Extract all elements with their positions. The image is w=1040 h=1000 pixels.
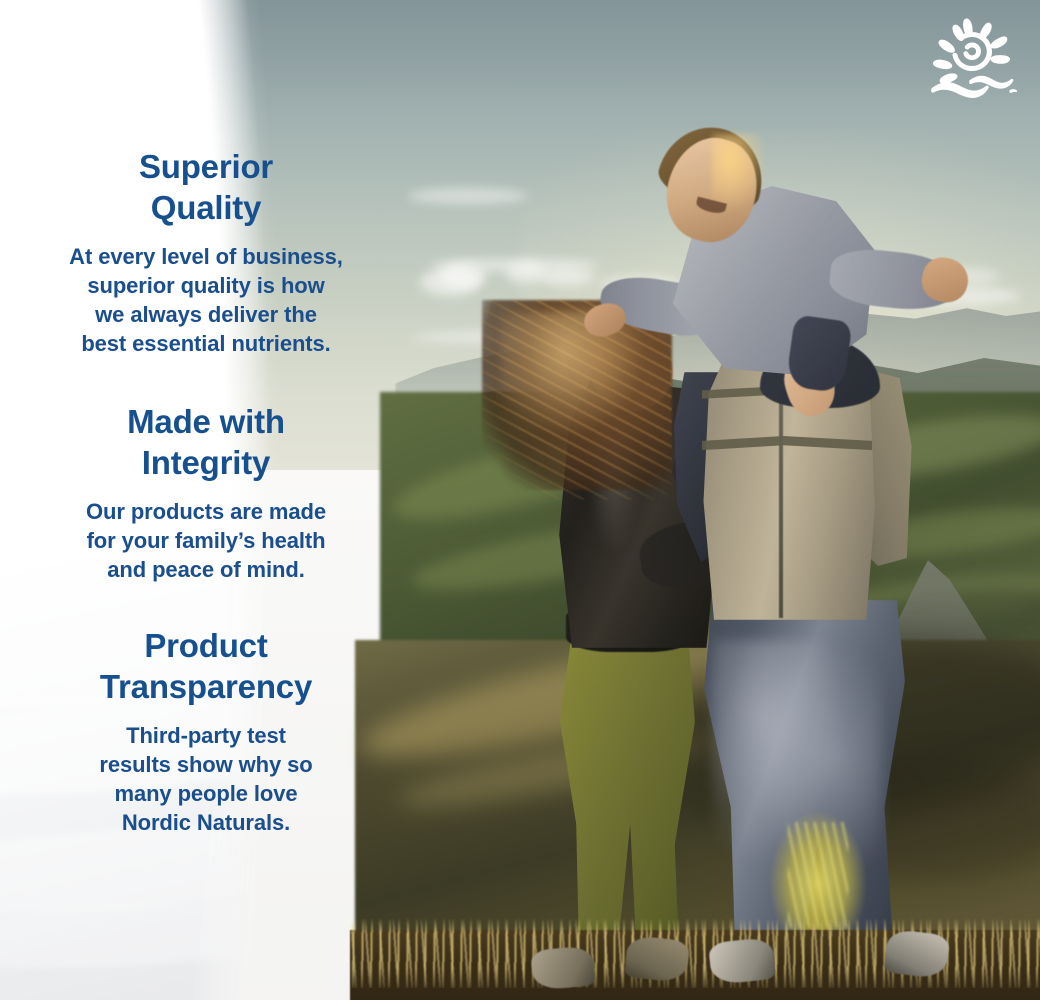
cloud <box>440 264 486 288</box>
feature-heading: Product Transparency <box>30 625 382 707</box>
man-left-shoe <box>708 937 776 985</box>
brand-banner: Superior Quality At every level of busin… <box>0 0 1040 1000</box>
cloud <box>540 268 594 286</box>
cloud <box>408 188 528 204</box>
feature-body: Our products are made for your family’s … <box>30 497 382 584</box>
woman-left-shoe <box>530 945 595 990</box>
woman-hair-rimlight <box>500 312 670 462</box>
feature-heading: Made with Integrity <box>30 401 382 483</box>
sun-wave-logo-icon <box>926 16 1022 104</box>
cloud <box>506 262 546 284</box>
feature-body: At every level of business, superior qua… <box>30 242 382 358</box>
feature-product-transparency: Product Transparency Third-party test re… <box>30 625 382 837</box>
feature-superior-quality: Superior Quality At every level of busin… <box>30 146 382 358</box>
feature-made-with-integrity: Made with Integrity Our products are mad… <box>30 401 382 584</box>
feature-heading: Superior Quality <box>30 146 382 228</box>
yellow-bush <box>770 812 866 932</box>
feature-body: Third-party test results show why so man… <box>30 721 382 837</box>
feature-list: Superior Quality At every level of busin… <box>30 0 382 1000</box>
